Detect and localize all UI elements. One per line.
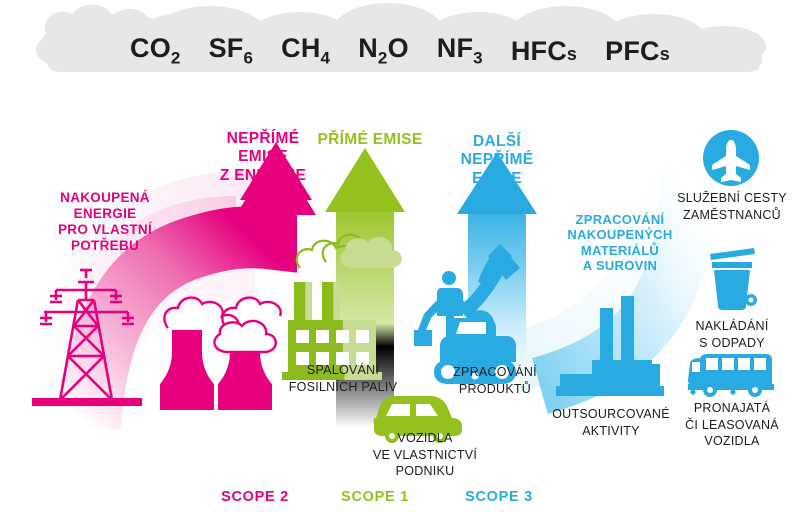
- scope3-products-caption-line2: PRODUKTŮ: [420, 381, 570, 398]
- scope2-side-label-line3: PRO VLASTNÍ: [20, 222, 190, 238]
- scope3-side-label-line3: MATERIÁLŮ: [545, 243, 695, 258]
- gas-nf3: NF3: [437, 33, 483, 68]
- right-item-2-line1: PRONAJATÁ: [666, 400, 798, 417]
- scope3-arrow-label-line1: DALŠÍ: [432, 133, 562, 151]
- scope1-vehicle-caption-line3: PODNIKU: [352, 463, 498, 480]
- scope2-side-label: NAKOUPENÁ ENERGIE PRO VLASTNÍ POTŘEBU: [20, 190, 190, 254]
- right-item-leased-vehicles-caption: PRONAJATÁ ČI LEASOVANÁ VOZIDLA: [666, 400, 798, 450]
- scope1-vehicle-caption-line1: VOZIDLA: [352, 430, 498, 447]
- infographic-canvas: CO2 SF6 CH4 N2O NF3 HFCs PFCs NEPŘÍMÉ EM…: [0, 0, 800, 512]
- scope3-arrow-label-line2: NEPŘÍMÉ: [432, 151, 562, 169]
- scope3-products-caption: ZPRACOVÁNÍ PRODUKTŮ: [420, 364, 570, 397]
- scope1-arrow-label: PŘÍMÉ EMISE: [300, 131, 440, 149]
- right-item-0-line1: SLUŽEBNÍ CESTY: [666, 190, 798, 207]
- scope3-products-caption-line1: ZPRACOVÁNÍ: [420, 364, 570, 381]
- scope1-vehicle-caption-line2: VE VLASTNICTVÍ: [352, 447, 498, 464]
- scope2-arrow-label-line2: EMISE: [193, 148, 333, 166]
- right-item-0-line2: ZAMĚSTNANCŮ: [666, 207, 798, 224]
- scope1-factory-caption-line2: FOSILNÍCH PALIV: [268, 379, 418, 396]
- scope2-arrow-label-line3: Z ENERGIE: [193, 167, 333, 185]
- scope2-side-label-line4: POTŘEBU: [20, 238, 190, 254]
- gas-ch4: CH4: [281, 33, 330, 68]
- airplane-icon: [703, 130, 759, 186]
- right-item-1-line2: S ODPADY: [666, 335, 798, 352]
- gas-pfcs: PFCs: [605, 36, 670, 67]
- scope3-arrow-label: DALŠÍ NEPŘÍMÉ EMISE: [432, 133, 562, 188]
- scope2-side-label-line1: NAKOUPENÁ: [20, 190, 190, 206]
- scope-label-3: SCOPE 3: [434, 489, 564, 505]
- scope1-factory-caption: SPALOVÁNÍ FOSILNÍCH PALIV: [268, 362, 418, 395]
- right-item-2-line3: VOZIDLA: [666, 433, 798, 450]
- right-item-waste-caption: NAKLÁDÁNÍ S ODPADY: [666, 318, 798, 351]
- scope3-outsourcing-caption-line1: OUTSOURCOVANÉ: [536, 406, 686, 423]
- bus-icon: [688, 354, 774, 397]
- right-item-1-line1: NAKLÁDÁNÍ: [666, 318, 798, 335]
- gas-n2o: N2O: [358, 33, 409, 68]
- scope3-side-label-line4: A SUROVIN: [545, 258, 695, 273]
- right-item-2-line2: ČI LEASOVANÁ: [666, 417, 798, 434]
- scope2-side-label-line2: ENERGIE: [20, 206, 190, 222]
- scope-label-1: SCOPE 1: [310, 489, 440, 505]
- gas-formula-row: CO2 SF6 CH4 N2O NF3 HFCs PFCs: [0, 28, 800, 74]
- gas-sf6: SF6: [209, 33, 254, 68]
- gas-co2: CO2: [130, 33, 181, 68]
- scope-label-2: SCOPE 2: [190, 489, 320, 505]
- right-item-business-travel-caption: SLUŽEBNÍ CESTY ZAMĚSTNANCŮ: [666, 190, 798, 223]
- scope1-factory-caption-line1: SPALOVÁNÍ: [268, 362, 418, 379]
- scope3-arrow-label-line3: EMISE: [432, 170, 562, 188]
- scope1-arrow-label-line1: PŘÍMÉ EMISE: [300, 131, 440, 149]
- trash-bin-icon: [710, 248, 757, 310]
- gas-hfcs: HFCs: [511, 36, 577, 67]
- scope1-vehicle-caption: VOZIDLA VE VLASTNICTVÍ PODNIKU: [352, 430, 498, 480]
- scope3-outsourcing-caption: OUTSOURCOVANÉ AKTIVITY: [536, 406, 686, 439]
- scope3-side-label-line2: NAKOUPENÝCH: [545, 227, 695, 242]
- scope3-outsourcing-caption-line2: AKTIVITY: [536, 423, 686, 440]
